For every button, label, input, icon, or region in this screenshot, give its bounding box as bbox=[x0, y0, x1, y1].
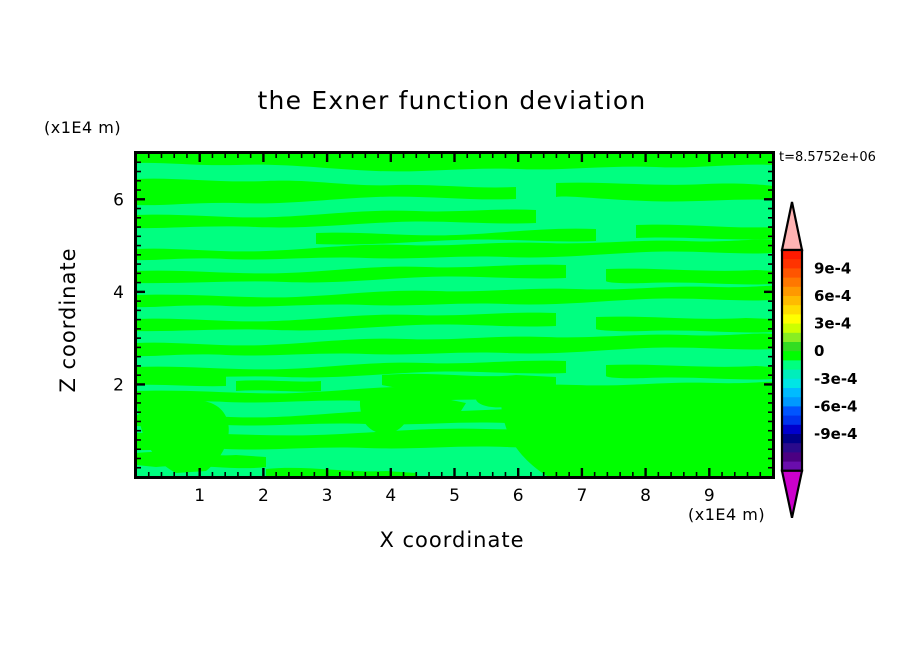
colorbar-over-cap bbox=[782, 202, 802, 250]
colorbar-band bbox=[782, 268, 802, 278]
colorbar-band bbox=[782, 360, 802, 370]
colorbar-band bbox=[782, 434, 802, 444]
colorbar-band bbox=[782, 406, 802, 416]
colorbar-band bbox=[782, 351, 802, 361]
colorbar-band bbox=[782, 278, 802, 288]
colorbar-under-cap bbox=[782, 471, 802, 518]
x-tick-label: 4 bbox=[385, 486, 396, 506]
axes-layer: 123456789246 bbox=[0, 0, 904, 654]
colorbar-band bbox=[782, 342, 802, 352]
colorbar-tick-label: 3e-4 bbox=[814, 315, 851, 333]
colorbar-band bbox=[782, 425, 802, 435]
colorbar-tick-label: 0 bbox=[814, 342, 824, 360]
colorbar-band bbox=[782, 379, 802, 389]
x-tick-label: 8 bbox=[640, 486, 651, 506]
colorbar-band bbox=[782, 452, 802, 462]
colorbar: 9e-46e-43e-40-3e-4-6e-4-9e-4 bbox=[780, 200, 904, 520]
colorbar-band bbox=[782, 324, 802, 334]
y-tick-label: 4 bbox=[113, 283, 124, 303]
colorbar-band bbox=[782, 416, 802, 426]
colorbar-tick-label: 6e-4 bbox=[814, 287, 851, 305]
colorbar-band bbox=[782, 296, 802, 306]
x-tick-label: 9 bbox=[704, 486, 715, 506]
plot-frame bbox=[136, 153, 774, 478]
colorbar-tick-label: -9e-4 bbox=[814, 425, 858, 443]
y-tick-label: 2 bbox=[113, 375, 124, 395]
x-tick-label: 5 bbox=[449, 486, 460, 506]
colorbar-tick-label: -3e-4 bbox=[814, 370, 858, 388]
colorbar-band bbox=[782, 370, 802, 380]
colorbar-band bbox=[782, 443, 802, 453]
colorbar-band bbox=[782, 333, 802, 343]
x-tick-label: 1 bbox=[194, 486, 205, 506]
colorbar-band bbox=[782, 397, 802, 407]
colorbar-band bbox=[782, 305, 802, 315]
colorbar-tick-label: 9e-4 bbox=[814, 259, 851, 277]
colorbar-tick-label: -6e-4 bbox=[814, 397, 858, 415]
x-tick-label: 2 bbox=[258, 486, 269, 506]
x-tick-label: 3 bbox=[322, 486, 333, 506]
chart-canvas: the Exner function deviation (x1E4 m) (x… bbox=[0, 0, 904, 654]
colorbar-band bbox=[782, 388, 802, 398]
y-tick-label: 6 bbox=[113, 190, 124, 210]
x-tick-label: 7 bbox=[576, 486, 587, 506]
colorbar-band bbox=[782, 250, 802, 260]
colorbar-band bbox=[782, 314, 802, 324]
x-tick-label: 6 bbox=[513, 486, 524, 506]
colorbar-band bbox=[782, 287, 802, 297]
colorbar-band bbox=[782, 259, 802, 269]
